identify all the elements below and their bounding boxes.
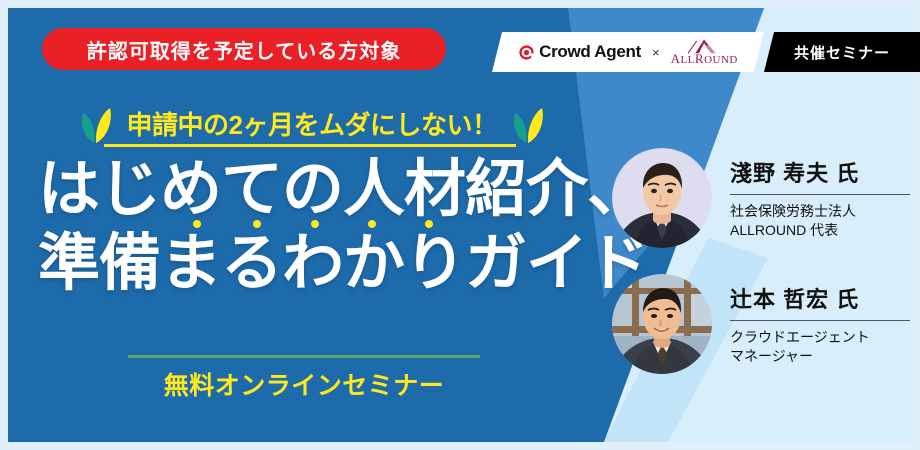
speaker-card-1: 淺野 寿夫 氏 社会保険労務士法人 ALLROUND 代表 [612, 148, 910, 248]
speaker-1-info: 淺野 寿夫 氏 社会保険労務士法人 ALLROUND 代表 [730, 156, 910, 240]
headline-line-1: はじめての人材紹介、 [38, 158, 618, 222]
speaker-1-divider [730, 194, 910, 195]
footer-text: 無料オンラインセミナー [128, 366, 480, 402]
allround-logo: ALLROUND [671, 38, 738, 66]
speaker-1-name: 淺野 寿夫 氏 [730, 156, 910, 188]
headline-line-2-text: 準備まるわかりガイド [38, 229, 648, 298]
speaker-1-role: 社会保険労務士法人 ALLROUND 代表 [730, 202, 910, 240]
headline-block: はじめての人材紹介、 準備まるわかりガイド [38, 158, 618, 297]
target-audience-label: 許認可取得を予定している方対象 [87, 35, 401, 64]
subtitle-text: 申請中の2ヶ月をムダにしない！ [127, 105, 498, 142]
avatar-photo-1 [612, 148, 712, 248]
speaker-2-role: クラウドエージェント マネージャー [730, 328, 910, 366]
crowd-agent-logo: Crowd Agent [518, 42, 641, 62]
collab-cross-icon: × [651, 45, 661, 60]
speaker-2-info: 辻本 哲宏 氏 クラウドエージェント マネージャー [730, 282, 910, 366]
target-audience-badge: 許認可取得を予定している方対象 [42, 28, 446, 70]
speaker-1-role-line-1: 社会保険労務士法人 [730, 202, 910, 221]
speaker-2-name: 辻本 哲宏 氏 [730, 282, 910, 314]
logo-ribbon: Crowd Agent × ALLROUND 共催セミナー [492, 32, 920, 72]
speaker-2-divider [730, 320, 910, 321]
speaker-2-avatar [612, 274, 712, 374]
footer-rule [128, 355, 480, 358]
subtitle-underline [104, 144, 516, 147]
speaker-1-avatar [612, 148, 712, 248]
crowd-agent-wordmark: Crowd Agent [539, 42, 641, 62]
sprout-leaf-icon-right [511, 101, 545, 145]
headline-line-2: 準備まるわかりガイド [38, 232, 618, 296]
avatar-photo-2 [612, 274, 712, 374]
speaker-1-role-line-2: ALLROUND 代表 [730, 221, 910, 240]
seminar-type-tag: 共催セミナー [764, 32, 920, 72]
ribbon-partners: Crowd Agent × ALLROUND [492, 32, 764, 72]
seminar-banner: 許認可取得を予定している方対象 Crowd Agent × ALLROUND [0, 0, 920, 450]
allround-wordmark: ALLROUND [671, 52, 738, 66]
subtitle-row: 申請中の2ヶ月をムダにしない！ [62, 96, 562, 150]
speaker-2-role-line-2: マネージャー [730, 347, 910, 366]
seminar-type-label: 共催セミナー [794, 42, 890, 63]
sprout-leaf-icon-left [79, 101, 113, 145]
speaker-card-2: 辻本 哲宏 氏 クラウドエージェント マネージャー [612, 274, 910, 374]
speaker-2-role-line-1: クラウドエージェント [730, 328, 910, 347]
crowd-agent-mark-icon [518, 44, 535, 61]
